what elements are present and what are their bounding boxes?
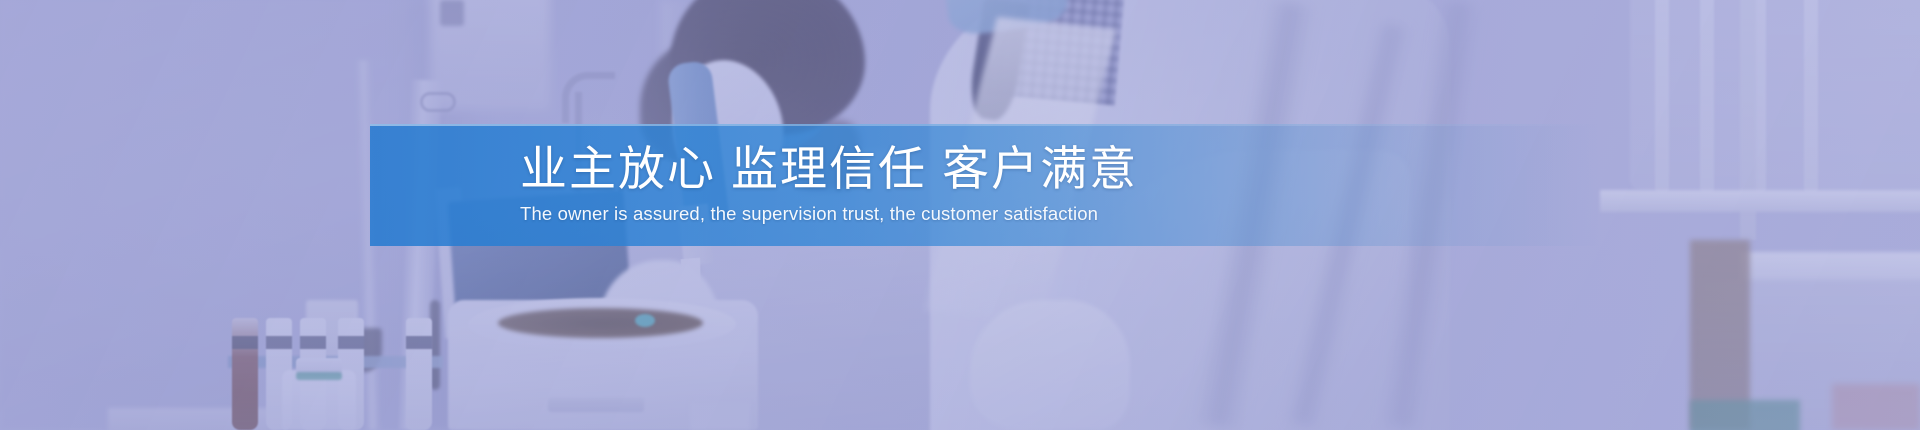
banner-headline-chinese: 业主放心 监理信任 客户满意 — [520, 145, 1138, 194]
banner-subtitle-english: The owner is assured, the supervision tr… — [520, 203, 1098, 225]
slogan-text-block: 业主放心 监理信任 客户满意 The owner is assured, the… — [370, 124, 1600, 246]
hero-banner: 业主放心 监理信任 客户满意 The owner is assured, the… — [0, 0, 1920, 430]
